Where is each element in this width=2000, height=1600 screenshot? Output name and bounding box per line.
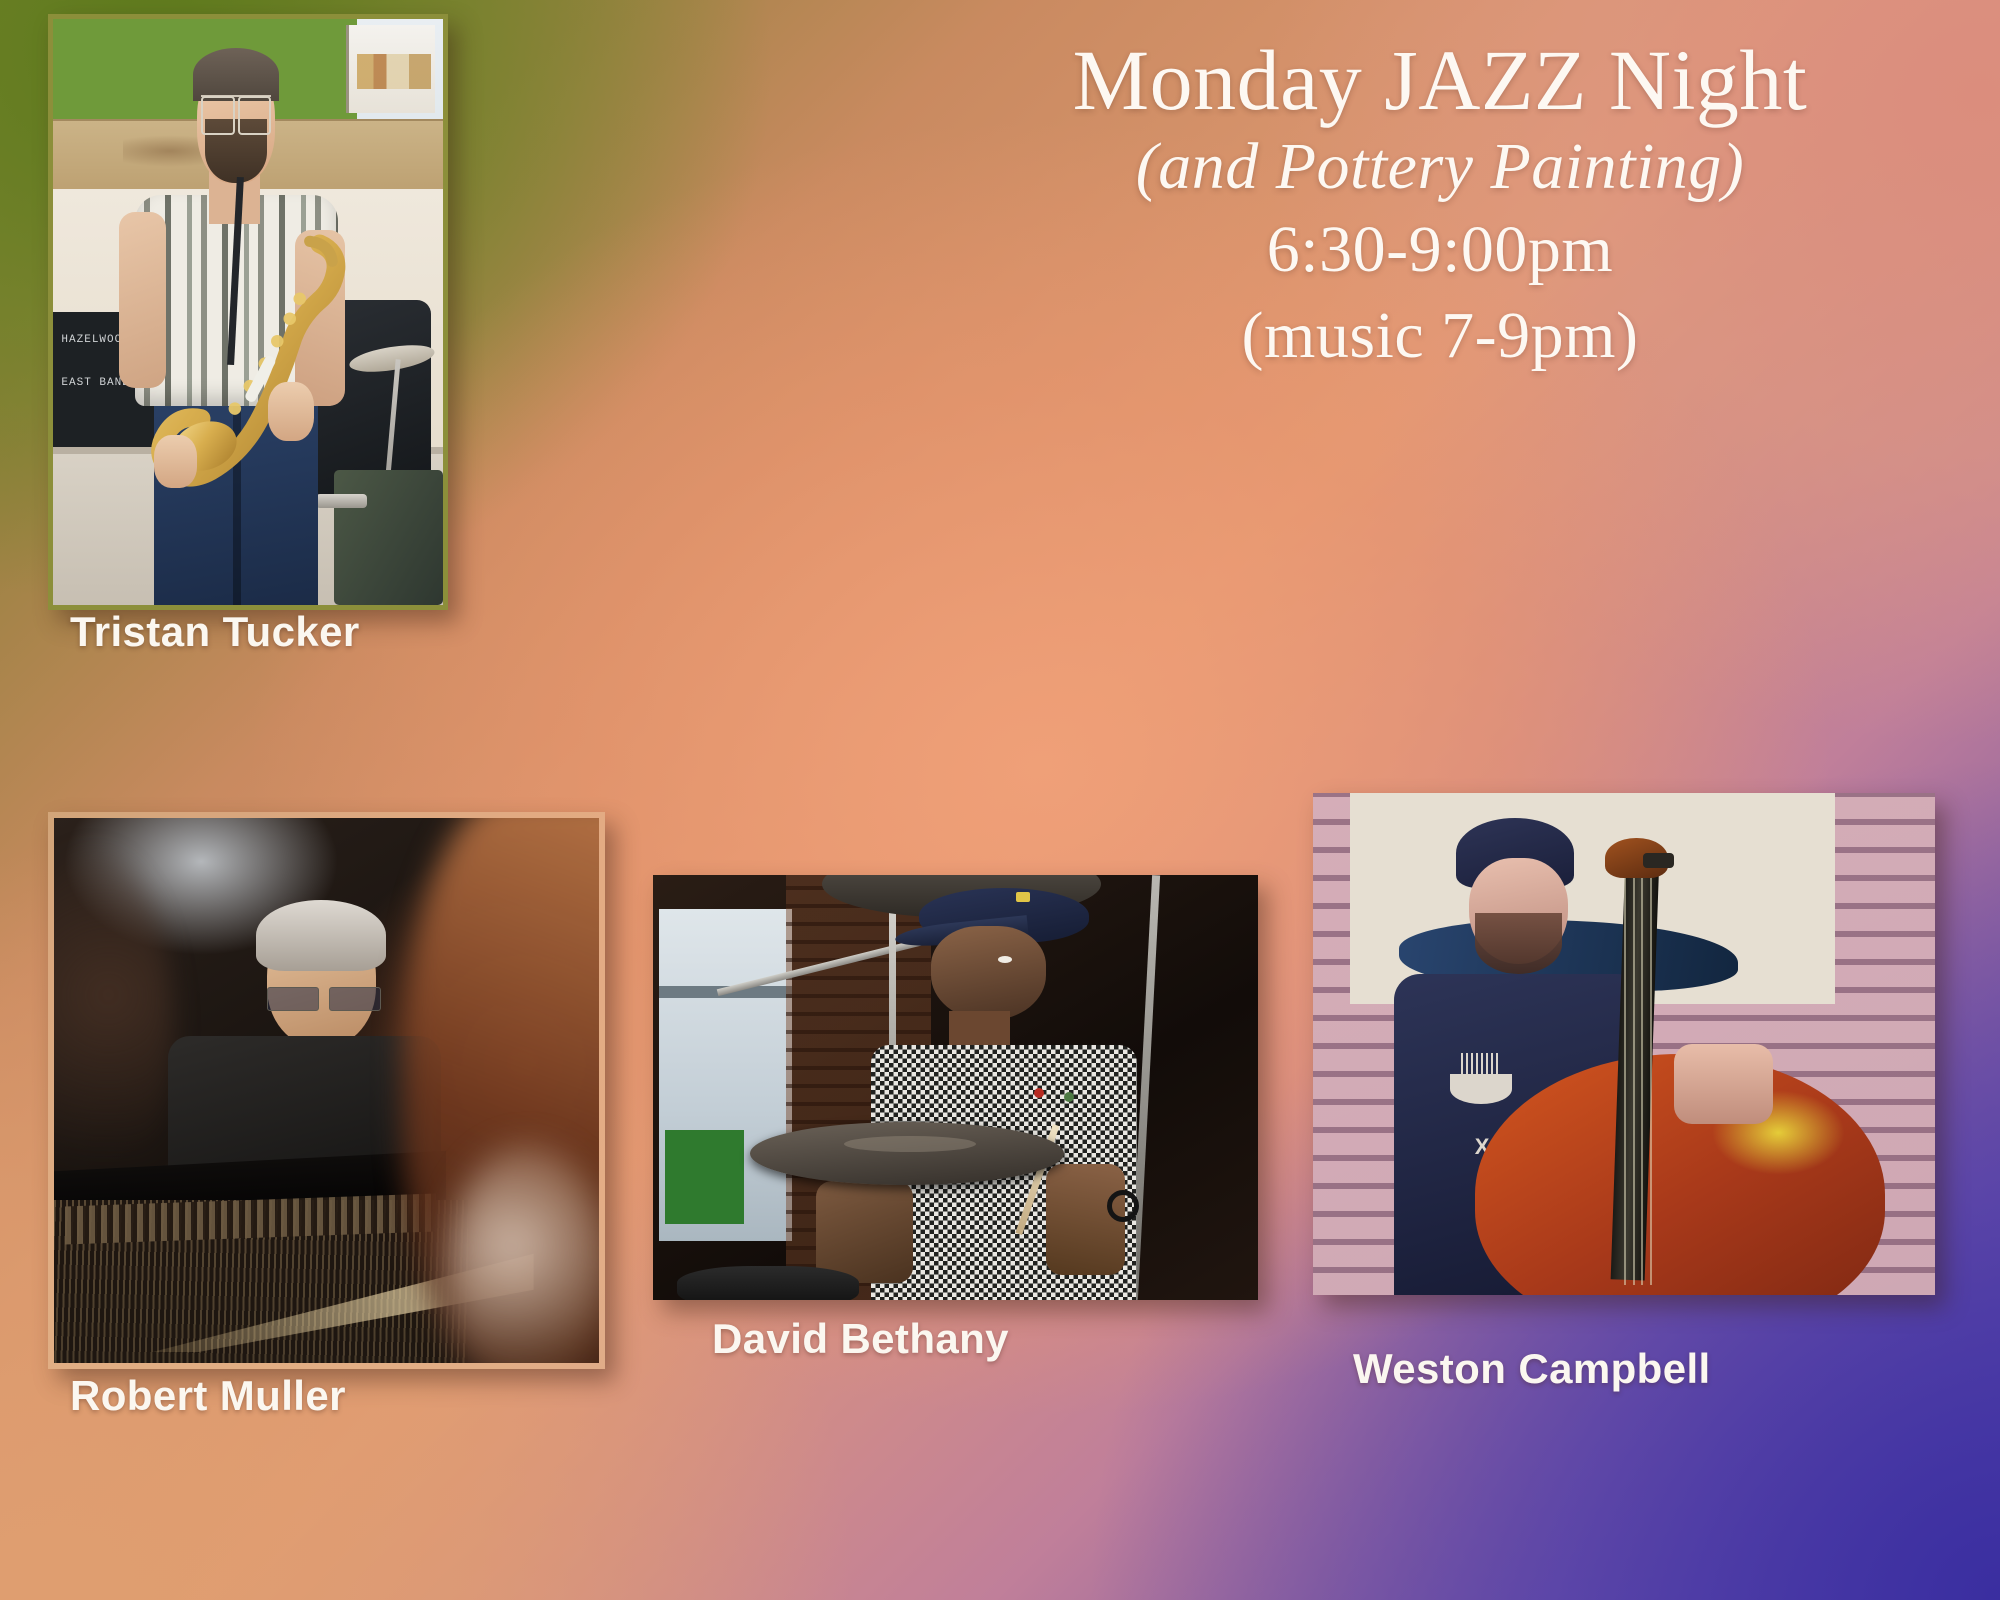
headline-line-time: 6:30-9:00pm (940, 207, 1940, 293)
photo-main-cymbal (750, 1122, 1065, 1186)
caption-tristan-tucker: Tristan Tucker (70, 608, 360, 656)
photo-bass-string-4 (1650, 873, 1652, 1285)
performer-photo-saxophonist: HAZELWOOD EAST BAND (48, 14, 448, 610)
photo-shirt-pin-1 (1034, 1088, 1044, 1098)
photo-right-hand (268, 382, 315, 441)
photo-cap-logo (1016, 892, 1030, 902)
performer-photo-drummer (653, 875, 1258, 1300)
noodle-bowl-graphic-icon (1450, 1074, 1512, 1104)
photo-beard (1475, 913, 1562, 973)
jazz-night-poster: Monday JAZZ Night (and Pottery Painting)… (0, 0, 2000, 1600)
performer-photo-pianist (48, 812, 605, 1369)
caption-weston-campbell: Weston Campbell (1353, 1345, 1711, 1393)
photo-grey-hair (256, 900, 387, 971)
caption-david-bethany: David Bethany (712, 1315, 1009, 1363)
photo-right-hand (1674, 1044, 1774, 1124)
photo-bass-string-1 (1624, 873, 1626, 1285)
photo-wall-mural (1350, 793, 1835, 1004)
performer-photo-bassist: X (1313, 793, 1935, 1295)
headline-line-subtitle: (and Pottery Painting) (940, 127, 1940, 208)
photo-bass-string-2 (1633, 873, 1635, 1285)
photo-snare-drum (677, 1266, 859, 1300)
headline-line-music: (music 7-9pm) (940, 293, 1940, 379)
photo-plant (665, 1130, 744, 1224)
photo-left-arm (816, 1181, 913, 1283)
photo-bass-string-3 (1641, 873, 1643, 1285)
eyeglasses-icon (201, 95, 271, 120)
eyeglasses-icon (267, 987, 381, 1009)
photo-window-contents (357, 54, 431, 89)
caption-robert-muller: Robert Muller (70, 1372, 346, 1420)
photo-bracelet (1107, 1190, 1139, 1222)
headline-line-title: Monday JAZZ Night (940, 34, 1940, 127)
photo-face (931, 926, 1046, 1020)
photo-tuning-peg (1643, 853, 1674, 868)
photo-left-hand (154, 435, 197, 488)
photo-eye (998, 956, 1012, 963)
headline-block: Monday JAZZ Night (and Pottery Painting)… (940, 34, 1940, 379)
photo-hair (193, 48, 279, 101)
